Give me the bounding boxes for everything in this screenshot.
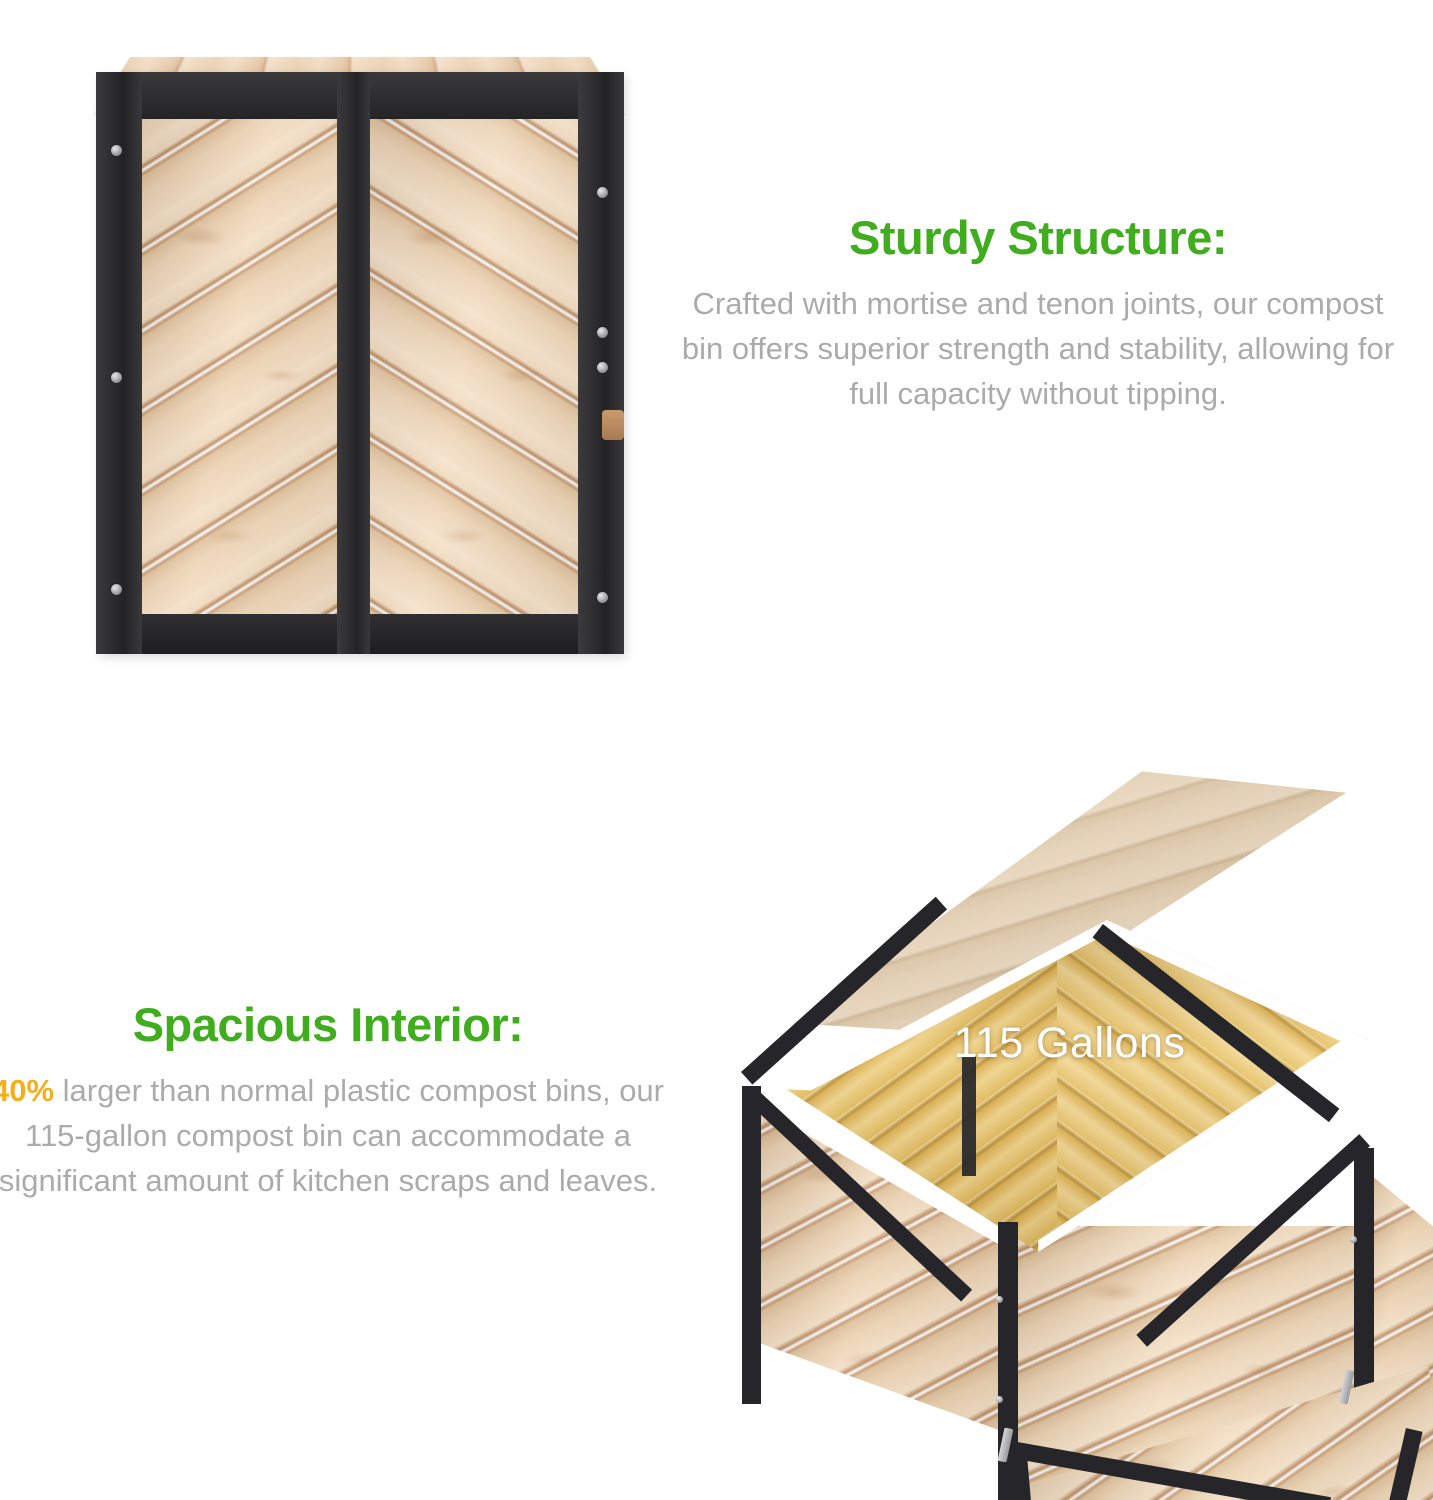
wood-panel-left: [142, 119, 337, 654]
feature-heading-spacious-interior: Spacious Interior:: [0, 1000, 664, 1049]
feature-block-spacious-interior: Spacious Interior: 40% larger than norma…: [0, 1000, 664, 1203]
feature-heading-sturdy-structure: Sturdy Structure:: [668, 213, 1408, 262]
screw-icon: [111, 584, 122, 595]
bin-body-frame: [96, 72, 624, 654]
frame-post-center: [337, 72, 370, 654]
feature-block-sturdy-structure: Sturdy Structure: Crafted with mortise a…: [668, 213, 1408, 416]
product-feature-page: Sturdy Structure: Crafted with mortise a…: [0, 0, 1433, 1500]
screw-icon: [597, 187, 608, 198]
screw-icon: [996, 1396, 1003, 1403]
screw-icon: [111, 372, 122, 383]
screw-icon: [597, 592, 608, 603]
frame-post-back: [962, 1056, 976, 1176]
stat-accent-percentage: 40%: [0, 1073, 54, 1108]
wood-panel-right: [370, 119, 578, 654]
feature-body-text: larger than normal plastic compost bins,…: [0, 1073, 664, 1197]
screw-icon: [597, 362, 608, 373]
screw-icon: [597, 327, 608, 338]
product-image-open-bin: 115 Gallons: [706, 756, 1433, 1500]
feature-body-spacious-interior: 40% larger than normal plastic compost b…: [0, 1069, 664, 1203]
screw-icon: [1350, 1236, 1357, 1243]
product-image-closed-bin: [78, 0, 642, 694]
feature-body-sturdy-structure: Crafted with mortise and tenon joints, o…: [668, 282, 1408, 416]
screw-icon: [996, 1296, 1003, 1303]
frame-post-left: [96, 72, 142, 654]
frame-post-open-left: [742, 1086, 761, 1404]
mortise-tenon-peg: [602, 410, 624, 440]
screw-icon: [111, 145, 122, 156]
